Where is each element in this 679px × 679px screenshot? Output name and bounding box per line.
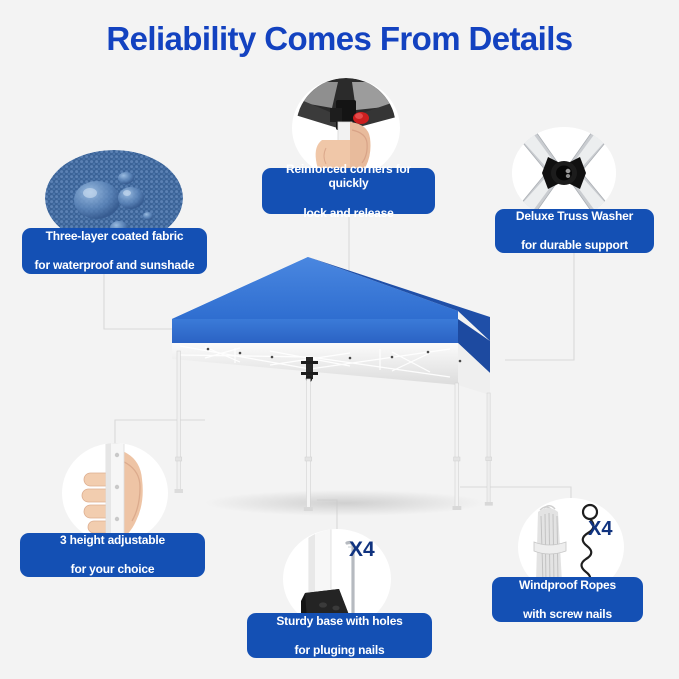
canopy-tent-illustration [160,245,520,530]
callout-label-height: 3 height adjustable for your choice [20,533,205,577]
label-line-1: Sturdy base with holes [253,614,426,629]
label-line-2: with screw nails [498,607,637,622]
label-line-2: for waterproof and sunshade [28,258,201,273]
label-line-2: lock and release [268,206,429,221]
label-line-1: Reinforced corners for quickly [268,162,429,191]
ground-shadow [205,490,485,516]
callout-label-corners: Reinforced corners for quickly lock and … [262,168,435,214]
roof-skirt-front [172,319,458,343]
label-line-2: for pluging nails [253,643,426,658]
label-line-2: for durable support [501,238,648,253]
label-line-1: Windproof Ropes [498,578,637,593]
ropes-quantity-badge: X4 [588,518,612,541]
base-quantity-badge: X4 [349,538,375,562]
height-adjust-photo [62,443,168,543]
label-line-1: Three-layer coated fabric [28,229,201,244]
callout-label-truss: Deluxe Truss Washer for durable support [495,209,654,253]
label-line-1: Deluxe Truss Washer [501,209,648,224]
truss-washer-photo [512,127,616,219]
callout-label-ropes: Windproof Ropes with screw nails [492,577,643,622]
label-line-2: for your choice [26,562,199,577]
label-line-1: 3 height adjustable [26,533,199,548]
callout-label-fabric: Three-layer coated fabric for waterproof… [22,228,207,274]
callout-label-base: Sturdy base with holes for pluging nails [247,613,432,658]
product-feature-infographic: Reliability Comes From Details [0,0,679,679]
page-title: Reliability Comes From Details [0,20,679,58]
roof-front-panel [172,257,458,319]
